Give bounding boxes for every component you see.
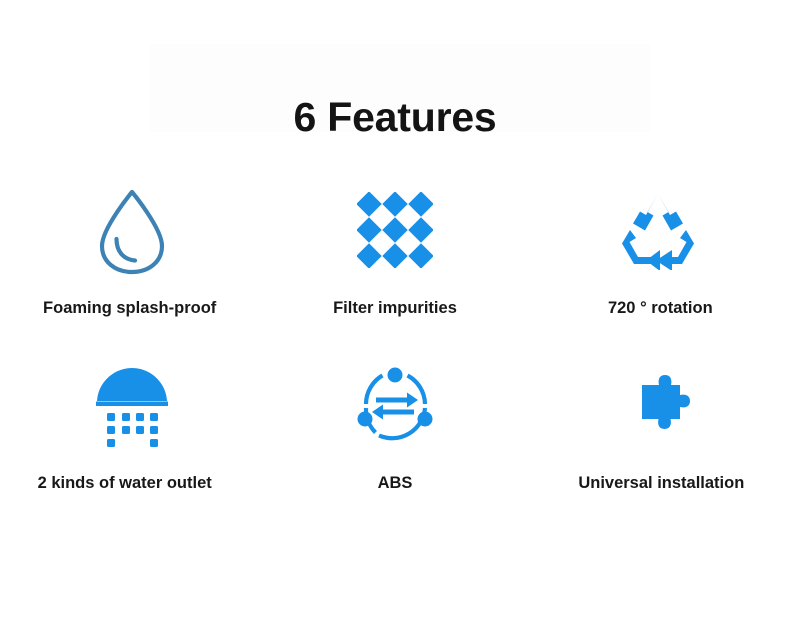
shower-head-icon — [89, 355, 175, 457]
feature-item-2-kinds-of-water-outlet: 2 kinds of water outlet — [0, 355, 263, 530]
exchange-circle-icon — [355, 355, 435, 457]
diamond-grid-filter-icon — [357, 180, 433, 280]
feature-label: Universal installation — [578, 474, 744, 493]
feature-label: 2 kinds of water outlet — [38, 474, 212, 493]
feature-item-filter-impurities: Filter impurities — [263, 180, 526, 355]
feature-label: Foaming splash-proof — [43, 299, 216, 318]
feature-label: ABS — [378, 474, 413, 493]
page-title: 6 Features — [0, 93, 790, 142]
puzzle-piece-icon — [630, 355, 702, 457]
feature-label: Filter impurities — [333, 299, 457, 318]
feature-item-universal-installation: Universal installation — [527, 355, 790, 530]
features-grid: Foaming splash-proof — [0, 180, 790, 530]
water-drop-icon — [91, 180, 173, 280]
features-page: 6 Features Foaming splash-proof — [0, 0, 790, 624]
feature-item-foaming-splash-proof: Foaming splash-proof — [0, 180, 263, 355]
recycle-icon — [616, 180, 700, 280]
feature-item-abs: ABS — [263, 355, 526, 530]
features-row: 2 kinds of water outlet — [0, 355, 790, 530]
features-row: Foaming splash-proof — [0, 180, 790, 355]
feature-item-720-rotation: 720 ° rotation — [527, 180, 790, 355]
feature-label: 720 ° rotation — [608, 299, 713, 318]
